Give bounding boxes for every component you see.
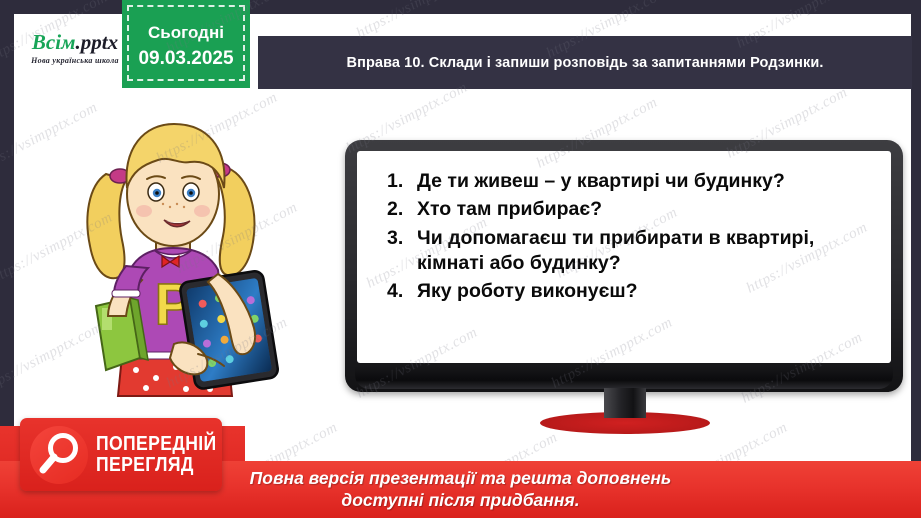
question-item: 4. Яку роботу виконуєш?: [387, 279, 873, 304]
slide-canvas: Р: [0, 0, 921, 518]
question-item: 3. Чи допомагаєш ти прибирати в квартирі…: [387, 226, 873, 277]
question-number: 3.: [387, 226, 417, 251]
questions-list: 1. Де ти живеш – у квартирі чи будинку? …: [357, 151, 891, 305]
monitor-screen: 1. Де ти живеш – у квартирі чи будинку? …: [357, 151, 891, 363]
preview-badge[interactable]: ПОПЕРЕДНІЙ ПЕРЕГЛЯД: [20, 418, 222, 491]
date-badge-label: Сьогодні: [148, 23, 224, 43]
logo-wordmark: Всім.pptx: [32, 32, 118, 53]
monitor-chin: [355, 367, 893, 389]
question-text: Де ти живеш – у квартирі чи будинку?: [417, 169, 873, 194]
date-badge-value: 09.03.2025: [138, 48, 233, 70]
banner-line-2: доступні після придбання.: [341, 490, 579, 512]
brand-logo: Всім.pptx Нова українська школа: [14, 18, 136, 78]
exercise-title: Вправа 10. Склади і запиши розповідь за …: [347, 55, 824, 71]
frame-right-border: [911, 0, 921, 518]
girl-with-tablet-illustration: Р: [78, 108, 283, 438]
magnifier-icon-svg: [30, 426, 88, 484]
monitor-illustration: 1. Де ти живеш – у квартирі чи будинку? …: [345, 140, 903, 392]
question-number: 1.: [387, 169, 417, 194]
preview-badge-line1: ПОПЕРЕДНІЙ: [96, 434, 217, 454]
logo-name-part: Всім: [32, 30, 76, 54]
girl-illustration-svg: Р: [78, 108, 283, 438]
question-number: 4.: [387, 279, 417, 304]
today-date-badge: Сьогодні 09.03.2025: [122, 0, 250, 88]
logo-subtitle: Нова українська школа: [31, 56, 119, 65]
exercise-title-bar: Вправа 10. Склади і запиши розповідь за …: [258, 36, 912, 89]
question-item: 2. Хто там прибирає?: [387, 197, 873, 222]
magnifier-icon: [30, 426, 88, 484]
preview-badge-line2: ПЕРЕГЛЯД: [96, 455, 217, 475]
preview-badge-labels: ПОПЕРЕДНІЙ ПЕРЕГЛЯД: [96, 434, 233, 475]
question-text: Чи допомагаєш ти прибирати в квартирі, к…: [417, 226, 873, 277]
monitor-stand-neck: [604, 388, 646, 418]
question-item: 1. Де ти живеш – у квартирі чи будинку?: [387, 169, 873, 194]
question-number: 2.: [387, 197, 417, 222]
question-text: Хто там прибирає?: [417, 197, 873, 222]
banner-line-1: Повна версія презентації та решта доповн…: [250, 468, 672, 490]
logo-ext-part: .pptx: [75, 30, 118, 54]
question-text: Яку роботу виконуєш?: [417, 279, 873, 304]
